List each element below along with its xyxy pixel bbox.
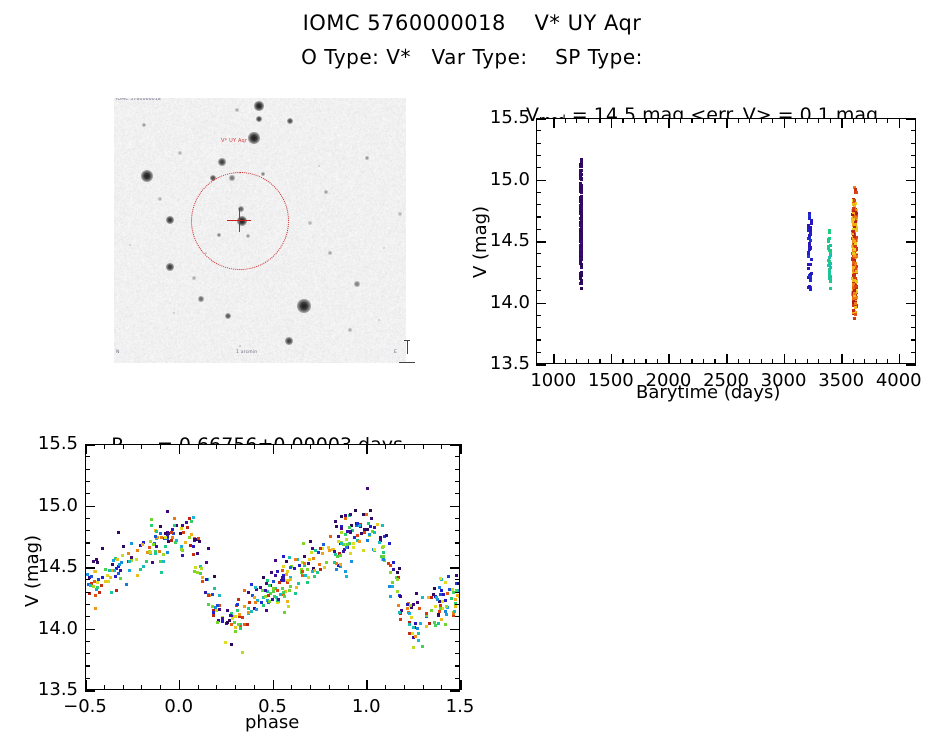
phase-plot-y-axis-label: V (mag)	[22, 535, 43, 607]
data-point	[399, 595, 402, 598]
data-point	[155, 530, 158, 533]
orientation-arrowhead	[404, 340, 410, 341]
data-point	[238, 613, 241, 616]
data-point	[150, 524, 153, 527]
data-point	[398, 611, 401, 614]
y-major-tick-right	[450, 690, 460, 692]
data-point	[399, 618, 402, 621]
y-minor-tick	[536, 315, 541, 316]
data-point	[580, 190, 583, 193]
x-minor-tick-top	[738, 118, 739, 123]
data-point	[224, 641, 227, 644]
data-point	[808, 244, 811, 247]
phase-plot-x-axis-label: phase	[245, 712, 299, 733]
y-major-tick	[85, 506, 95, 508]
data-point	[579, 246, 582, 249]
data-point	[139, 568, 142, 571]
data-point	[100, 584, 103, 587]
data-point	[829, 287, 832, 290]
data-point	[400, 609, 403, 612]
data-point	[852, 223, 855, 226]
data-point	[199, 572, 202, 575]
data-point	[440, 589, 443, 592]
data-point	[408, 623, 411, 626]
data-point	[136, 574, 139, 577]
data-point	[392, 561, 395, 564]
y-tick-label: 15.5	[28, 433, 78, 454]
data-point	[419, 622, 422, 625]
y-tick-label: 14.0	[28, 618, 78, 639]
x-minor-tick-top	[887, 118, 888, 123]
x-minor-tick-top	[141, 444, 142, 449]
data-point	[435, 596, 438, 599]
data-point	[855, 270, 858, 273]
data-point	[434, 605, 437, 608]
data-point	[313, 569, 316, 572]
x-minor-tick	[761, 359, 762, 364]
y-major-tick-right	[450, 444, 460, 446]
data-point	[287, 605, 290, 608]
data-point	[288, 556, 291, 559]
data-point	[302, 542, 305, 545]
data-point	[286, 570, 289, 573]
star-marker	[328, 251, 332, 255]
y-minor-tick-right	[455, 665, 460, 666]
x-major-tick	[460, 680, 462, 690]
x-minor-tick	[576, 359, 577, 364]
data-point	[366, 487, 369, 490]
data-point	[325, 561, 328, 564]
data-point	[107, 580, 110, 583]
x-minor-tick-top	[818, 118, 819, 123]
data-point	[185, 521, 188, 524]
data-point	[356, 534, 359, 537]
x-major-tick-top	[611, 118, 613, 128]
data-point	[391, 581, 394, 584]
data-point	[182, 531, 185, 534]
data-point	[396, 578, 399, 581]
star-marker	[158, 197, 161, 200]
data-point	[828, 274, 831, 277]
y-tick-label: 13.5	[480, 353, 530, 374]
data-point	[828, 231, 831, 234]
data-point	[121, 554, 124, 557]
finding-chart-sky-image: V* UY Aqr IOMC 5760000018 1 arcmin N E	[114, 98, 406, 363]
x-major-tick-top	[179, 444, 181, 454]
data-point	[278, 581, 281, 584]
data-point	[853, 276, 856, 279]
x-minor-tick	[864, 359, 865, 364]
data-point	[255, 608, 258, 611]
aperture-circle	[191, 172, 289, 270]
phase-plot: POMC = 0.66756±0.00003 days −0.50.00.51.…	[0, 412, 490, 747]
data-point	[289, 585, 292, 588]
data-point	[306, 581, 309, 584]
data-point	[205, 561, 208, 564]
y-minor-tick	[536, 167, 541, 168]
x-minor-tick	[404, 685, 405, 690]
target-crosshair-horizontal	[227, 220, 251, 221]
x-minor-tick-top	[657, 118, 658, 123]
data-point	[854, 313, 857, 316]
data-point	[855, 191, 858, 194]
data-point	[418, 607, 421, 610]
x-major-tick-top	[726, 118, 728, 128]
data-point	[378, 541, 381, 544]
y-minor-tick	[85, 592, 90, 593]
data-point	[854, 285, 857, 288]
data-point	[323, 566, 326, 569]
y-minor-tick-right	[911, 253, 916, 254]
data-point	[145, 560, 148, 563]
data-point	[270, 571, 273, 574]
y-minor-tick-right	[911, 315, 916, 316]
data-point	[807, 267, 810, 270]
data-point	[86, 573, 89, 576]
data-point	[439, 607, 442, 610]
type-summary-line: O Type: V* Var Type: SP Type:	[0, 44, 944, 70]
data-point	[434, 624, 437, 627]
data-point	[339, 554, 342, 557]
data-point	[293, 567, 296, 570]
data-point	[289, 566, 292, 569]
data-point	[307, 576, 310, 579]
data-point	[261, 589, 264, 592]
x-minor-tick	[254, 685, 255, 690]
data-point	[294, 592, 297, 595]
y-tick-label: 14.0	[480, 292, 530, 313]
data-point	[352, 546, 355, 549]
data-point	[173, 524, 176, 527]
x-minor-tick-top	[761, 118, 762, 123]
star-marker	[254, 101, 263, 110]
data-point	[180, 548, 183, 551]
y-minor-tick	[85, 653, 90, 654]
data-point	[353, 536, 356, 539]
data-point	[852, 309, 855, 312]
data-point	[233, 621, 236, 624]
data-point	[303, 555, 306, 558]
data-point	[162, 560, 165, 563]
y-minor-tick-right	[911, 192, 916, 193]
data-point	[184, 541, 187, 544]
data-point	[192, 545, 195, 548]
data-point	[344, 533, 347, 536]
data-point	[152, 543, 155, 546]
data-point	[218, 608, 221, 611]
data-point	[272, 580, 275, 583]
data-point	[226, 609, 229, 612]
data-point	[281, 587, 284, 590]
data-point	[201, 576, 204, 579]
data-point	[444, 623, 447, 626]
data-point	[248, 601, 251, 604]
x-minor-tick	[772, 359, 773, 364]
data-point	[579, 171, 582, 174]
x-minor-tick	[291, 685, 292, 690]
x-major-tick	[611, 354, 613, 364]
data-point	[366, 539, 369, 542]
data-point	[230, 623, 233, 626]
data-point	[579, 274, 582, 277]
lightcurve-plot: Vmed = 14.5 mag <err_V> = 0.1 mag 100015…	[440, 82, 940, 402]
data-point	[439, 577, 442, 580]
data-point	[192, 553, 195, 556]
data-point	[580, 264, 583, 267]
data-point	[319, 547, 322, 550]
data-point	[425, 625, 428, 628]
y-tick-label: 15.0	[28, 495, 78, 516]
data-point	[349, 552, 352, 555]
data-point	[295, 586, 298, 589]
data-point	[135, 558, 138, 561]
y-tick-label: 15.0	[480, 169, 530, 190]
y-minor-tick	[536, 327, 541, 328]
data-point	[363, 531, 366, 534]
y-minor-tick	[85, 456, 90, 457]
data-point	[350, 560, 353, 563]
y-minor-tick	[85, 469, 90, 470]
data-point	[89, 584, 92, 587]
x-tick-label: 4000	[875, 370, 923, 391]
data-point	[412, 603, 415, 606]
data-point	[457, 582, 460, 585]
data-point	[852, 261, 855, 264]
data-point	[579, 237, 582, 240]
data-point	[354, 509, 357, 512]
data-point	[367, 522, 370, 525]
north-label: N	[116, 350, 120, 355]
data-point	[312, 557, 315, 560]
x-tick-label: 1.5	[430, 696, 490, 717]
data-point	[154, 535, 157, 538]
x-minor-tick-top	[703, 118, 704, 123]
data-point	[397, 604, 400, 607]
data-point	[283, 595, 286, 598]
data-point	[254, 586, 257, 589]
data-point	[810, 258, 813, 261]
data-point	[239, 627, 242, 630]
data-point	[809, 232, 812, 235]
data-point	[268, 600, 271, 603]
data-point	[226, 621, 229, 624]
data-point	[237, 623, 240, 626]
data-point	[170, 531, 173, 534]
data-point	[579, 163, 582, 166]
data-point	[852, 279, 855, 282]
data-point	[580, 232, 583, 235]
data-point	[316, 571, 319, 574]
y-major-tick-right	[450, 629, 460, 631]
x-minor-tick-top	[772, 118, 773, 123]
data-point	[828, 237, 831, 240]
y-minor-tick	[85, 665, 90, 666]
x-major-tick	[726, 354, 728, 364]
data-point	[237, 598, 240, 601]
east-label: E	[394, 350, 397, 355]
x-minor-tick-top	[385, 444, 386, 449]
x-major-tick-top	[460, 444, 462, 454]
data-point	[285, 573, 288, 576]
data-point	[128, 560, 131, 563]
data-point	[396, 571, 399, 574]
data-point	[117, 531, 120, 534]
y-minor-tick	[85, 616, 90, 617]
y-minor-tick-right	[455, 616, 460, 617]
data-point	[854, 262, 857, 265]
x-minor-tick-top	[348, 444, 349, 449]
x-major-tick-top	[784, 118, 786, 128]
y-minor-tick-right	[455, 592, 460, 593]
x-minor-tick-top	[123, 444, 124, 449]
data-point	[111, 563, 114, 566]
data-point	[317, 551, 320, 554]
data-point	[448, 588, 451, 591]
data-point	[425, 612, 428, 615]
data-point	[113, 569, 116, 572]
data-point	[329, 535, 332, 538]
x-major-tick	[366, 680, 368, 690]
y-minor-tick-right	[455, 678, 460, 679]
data-point	[421, 645, 424, 648]
data-point	[810, 222, 813, 225]
data-point	[96, 561, 99, 564]
y-minor-tick	[536, 339, 541, 340]
data-point	[385, 534, 388, 537]
data-point	[334, 520, 337, 523]
x-major-tick	[85, 680, 87, 690]
data-point	[445, 605, 448, 608]
data-point	[241, 616, 244, 619]
y-minor-tick-right	[455, 493, 460, 494]
y-minor-tick	[536, 229, 541, 230]
page-title: IOMC 5760000018 V* UY Aqr	[0, 10, 944, 36]
data-point	[373, 548, 376, 551]
x-minor-tick-top	[104, 444, 105, 449]
y-minor-tick	[536, 278, 541, 279]
data-point	[433, 587, 436, 590]
data-point	[301, 570, 304, 573]
data-point	[455, 574, 458, 577]
data-point	[216, 604, 219, 607]
y-minor-tick-right	[455, 456, 460, 457]
star-marker	[166, 216, 174, 224]
y-minor-tick	[85, 481, 90, 482]
y-minor-tick-right	[911, 339, 916, 340]
scale-bar-label: 1 arcmin	[236, 350, 257, 355]
y-minor-tick-right	[455, 518, 460, 519]
data-point	[273, 595, 276, 598]
y-major-tick-right	[906, 303, 916, 305]
data-point	[108, 569, 111, 572]
x-minor-tick	[714, 359, 715, 364]
star-marker	[297, 299, 311, 313]
data-point	[438, 586, 441, 589]
data-point	[809, 288, 812, 291]
y-minor-tick	[85, 579, 90, 580]
y-minor-tick-right	[455, 555, 460, 556]
data-point	[854, 245, 857, 248]
y-minor-tick-right	[455, 469, 460, 470]
data-point	[853, 289, 856, 292]
data-point	[197, 537, 200, 540]
x-minor-tick	[216, 685, 217, 690]
y-minor-tick	[536, 192, 541, 193]
data-point	[852, 207, 855, 210]
y-minor-tick-right	[455, 542, 460, 543]
y-minor-tick	[536, 130, 541, 131]
data-point	[193, 570, 196, 573]
x-minor-tick-top	[291, 444, 292, 449]
data-point	[193, 538, 196, 541]
data-point	[408, 632, 411, 635]
data-point	[333, 550, 336, 553]
data-point	[369, 525, 372, 528]
data-point	[170, 539, 173, 542]
y-minor-tick	[85, 678, 90, 679]
x-minor-tick-top	[634, 118, 635, 123]
data-point	[311, 570, 314, 573]
data-point	[335, 568, 338, 571]
x-tick-label: 1000	[529, 370, 577, 391]
data-point	[389, 595, 392, 598]
x-major-tick-top	[366, 444, 368, 454]
data-point	[339, 563, 342, 566]
y-major-tick	[536, 241, 546, 243]
data-point	[96, 586, 99, 589]
data-point	[155, 545, 158, 548]
data-point	[119, 577, 122, 580]
data-point	[580, 184, 583, 187]
x-minor-tick-top	[807, 118, 808, 123]
data-point	[306, 568, 309, 571]
data-point	[160, 571, 163, 574]
data-point	[853, 248, 856, 251]
data-point	[439, 593, 442, 596]
data-point	[853, 240, 856, 243]
x-minor-tick	[807, 359, 808, 364]
y-major-tick	[85, 629, 95, 631]
data-point	[159, 560, 162, 563]
data-point	[159, 525, 162, 528]
data-point	[277, 598, 280, 601]
data-point	[265, 609, 268, 612]
y-minor-tick	[536, 143, 541, 144]
x-minor-tick-top	[830, 118, 831, 123]
star-marker	[192, 276, 195, 279]
data-point	[307, 562, 310, 565]
x-minor-tick	[738, 359, 739, 364]
y-minor-tick	[536, 216, 541, 217]
data-point	[428, 622, 431, 625]
x-minor-tick	[818, 359, 819, 364]
data-point	[236, 603, 239, 606]
data-point	[211, 605, 214, 608]
data-point	[282, 577, 285, 580]
x-minor-tick	[680, 359, 681, 364]
data-point	[207, 603, 210, 606]
y-minor-tick-right	[455, 481, 460, 482]
x-minor-tick	[887, 359, 888, 364]
data-point	[321, 552, 324, 555]
data-point	[241, 651, 244, 654]
data-point	[101, 547, 104, 550]
x-minor-tick-top	[645, 118, 646, 123]
lightcurve-x-axis-label: Barytime (days)	[636, 382, 780, 403]
data-point	[809, 226, 812, 229]
data-point	[254, 601, 257, 604]
star-marker	[142, 123, 146, 127]
